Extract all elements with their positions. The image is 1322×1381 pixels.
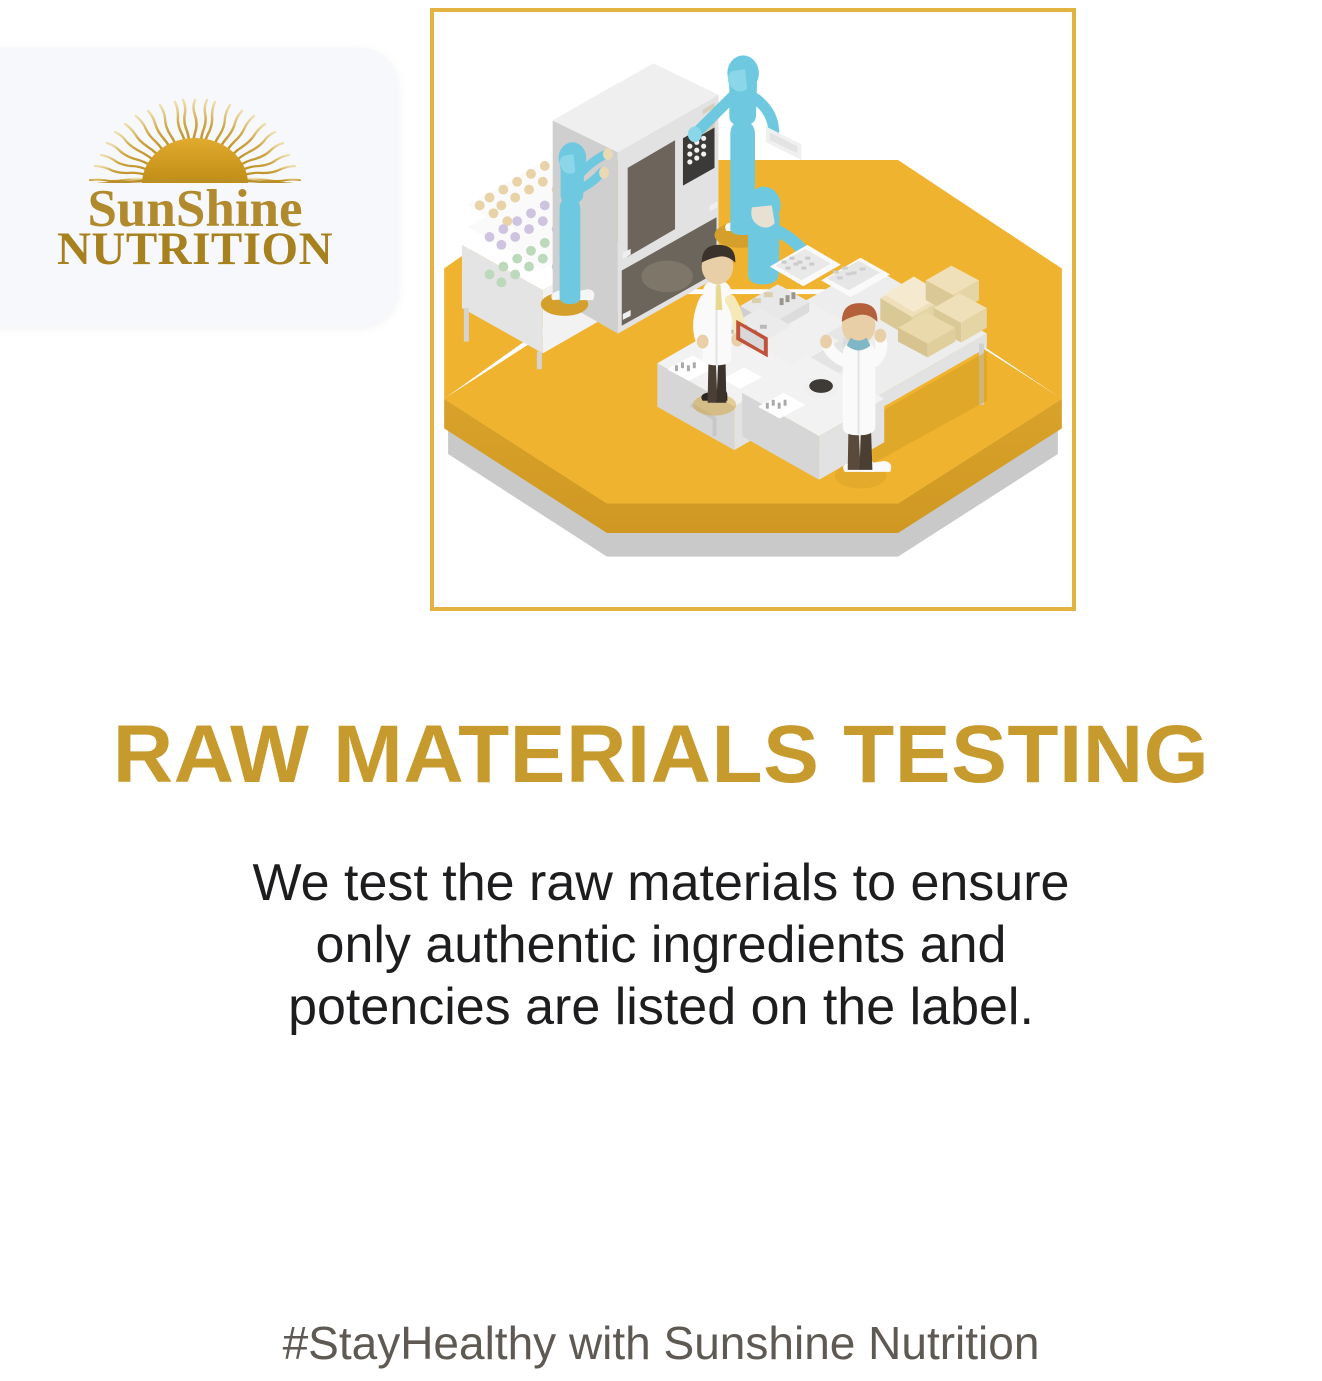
lab-testing-illustration [434, 12, 1072, 607]
footer-tagline: #StayHealthy with Sunshine Nutrition [0, 1316, 1322, 1370]
brand-logo: SunShine NUTRITION [59, 87, 331, 287]
brand-logo-card: SunShine NUTRITION [0, 48, 398, 326]
brand-wordmark-line2: NUTRITION [57, 228, 333, 271]
page-title: RAW MATERIALS TESTING [0, 714, 1322, 796]
description-line-1: We test the raw materials to ensure [161, 852, 1161, 914]
sunburst-icon [80, 87, 310, 183]
description-text: We test the raw materials to ensure only… [161, 852, 1161, 1038]
description-line-2: only authentic ingredients and [161, 914, 1161, 976]
brand-wordmark: SunShine NUTRITION [57, 185, 333, 271]
illustration-frame [430, 8, 1076, 611]
description-line-3: potencies are listed on the label. [161, 976, 1161, 1038]
